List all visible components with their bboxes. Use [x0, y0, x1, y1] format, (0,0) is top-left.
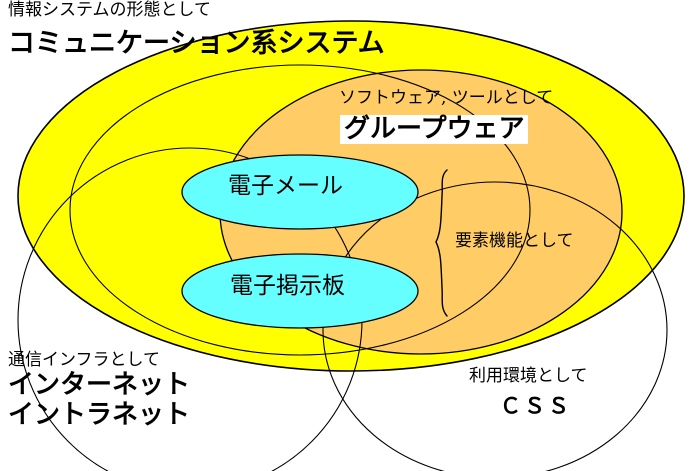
element-function-caption: 要素機能として [455, 233, 574, 250]
usage-environment-caption: 利用環境として [469, 368, 588, 385]
internet-label: インターネット [8, 372, 190, 398]
css-label: ＣＳＳ [500, 396, 572, 417]
communication-system-label: コミュニケーション系システム [8, 30, 385, 57]
software-tool-caption: ソフトウェア, ツールとして [339, 90, 553, 107]
communication-infra-caption: 通信インフラとして [8, 352, 160, 369]
intranet-label: イントラネット [8, 402, 190, 428]
bulletin-board-label: 電子掲示板 [230, 275, 345, 298]
venn-diagram-canvas: 情報システムの形態として コミュニケーション系システム ソフトウェア, ツールと… [0, 0, 689, 471]
information-system-caption: 情報システムの形態として [8, 2, 211, 19]
email-label: 電子メール [228, 175, 343, 198]
groupware-label: グループウェア [340, 115, 528, 144]
